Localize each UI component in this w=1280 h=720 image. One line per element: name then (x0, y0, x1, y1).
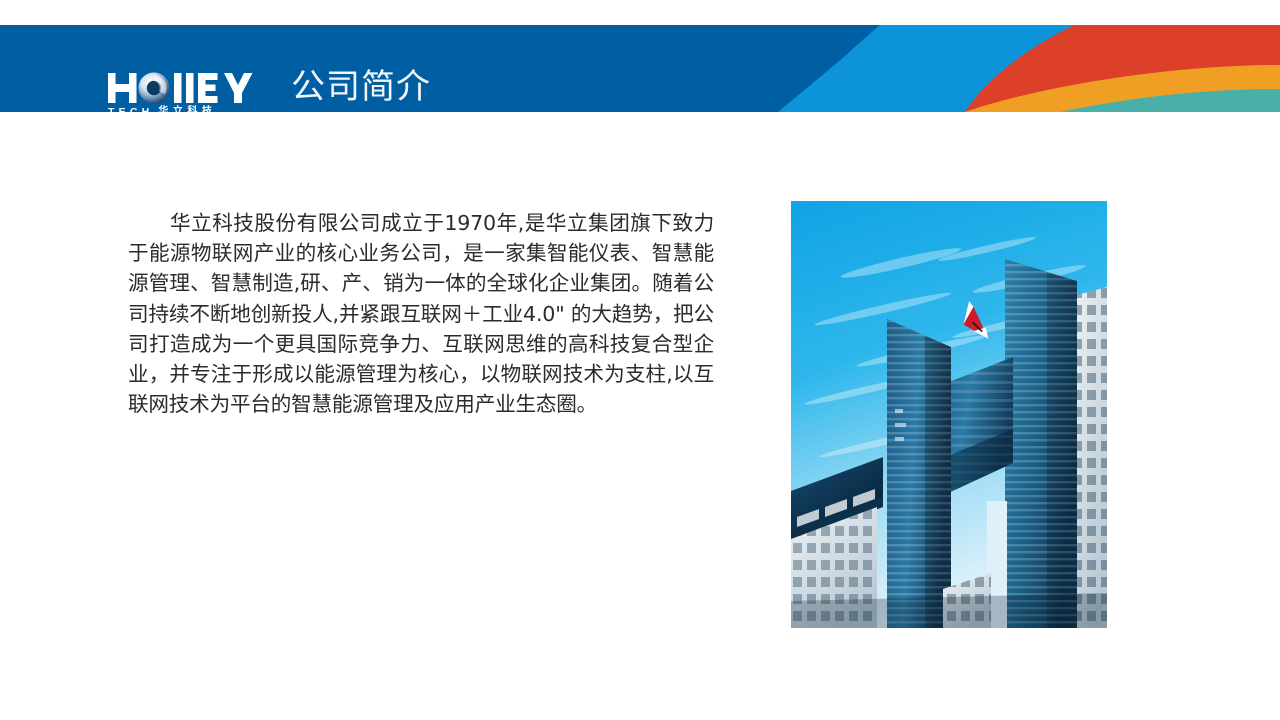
city-skyscrapers-photo (791, 201, 1107, 628)
holley-logo: TECH 华立科技 (108, 72, 264, 112)
holley-wordmark-icon (108, 72, 264, 104)
logo-tech-label: TECH (108, 107, 153, 112)
header-banner: TECH 华立科技 公司简介 (0, 25, 1280, 112)
company-intro-paragraph: 华立科技股份有限公司成立于1970年,是华立集团旗下致力于能源物联网产业的核心业… (128, 208, 714, 419)
page-title: 公司简介 (291, 69, 431, 106)
logo-chinese-label: 华立科技 (158, 107, 216, 112)
slide-root: TECH 华立科技 公司简介 华立科技股份有限公司成立于1970年,是华立集团旗… (0, 0, 1280, 720)
banner-swoosh-decoration (760, 25, 1280, 112)
logo-subtext: TECH 华立科技 (108, 107, 264, 112)
